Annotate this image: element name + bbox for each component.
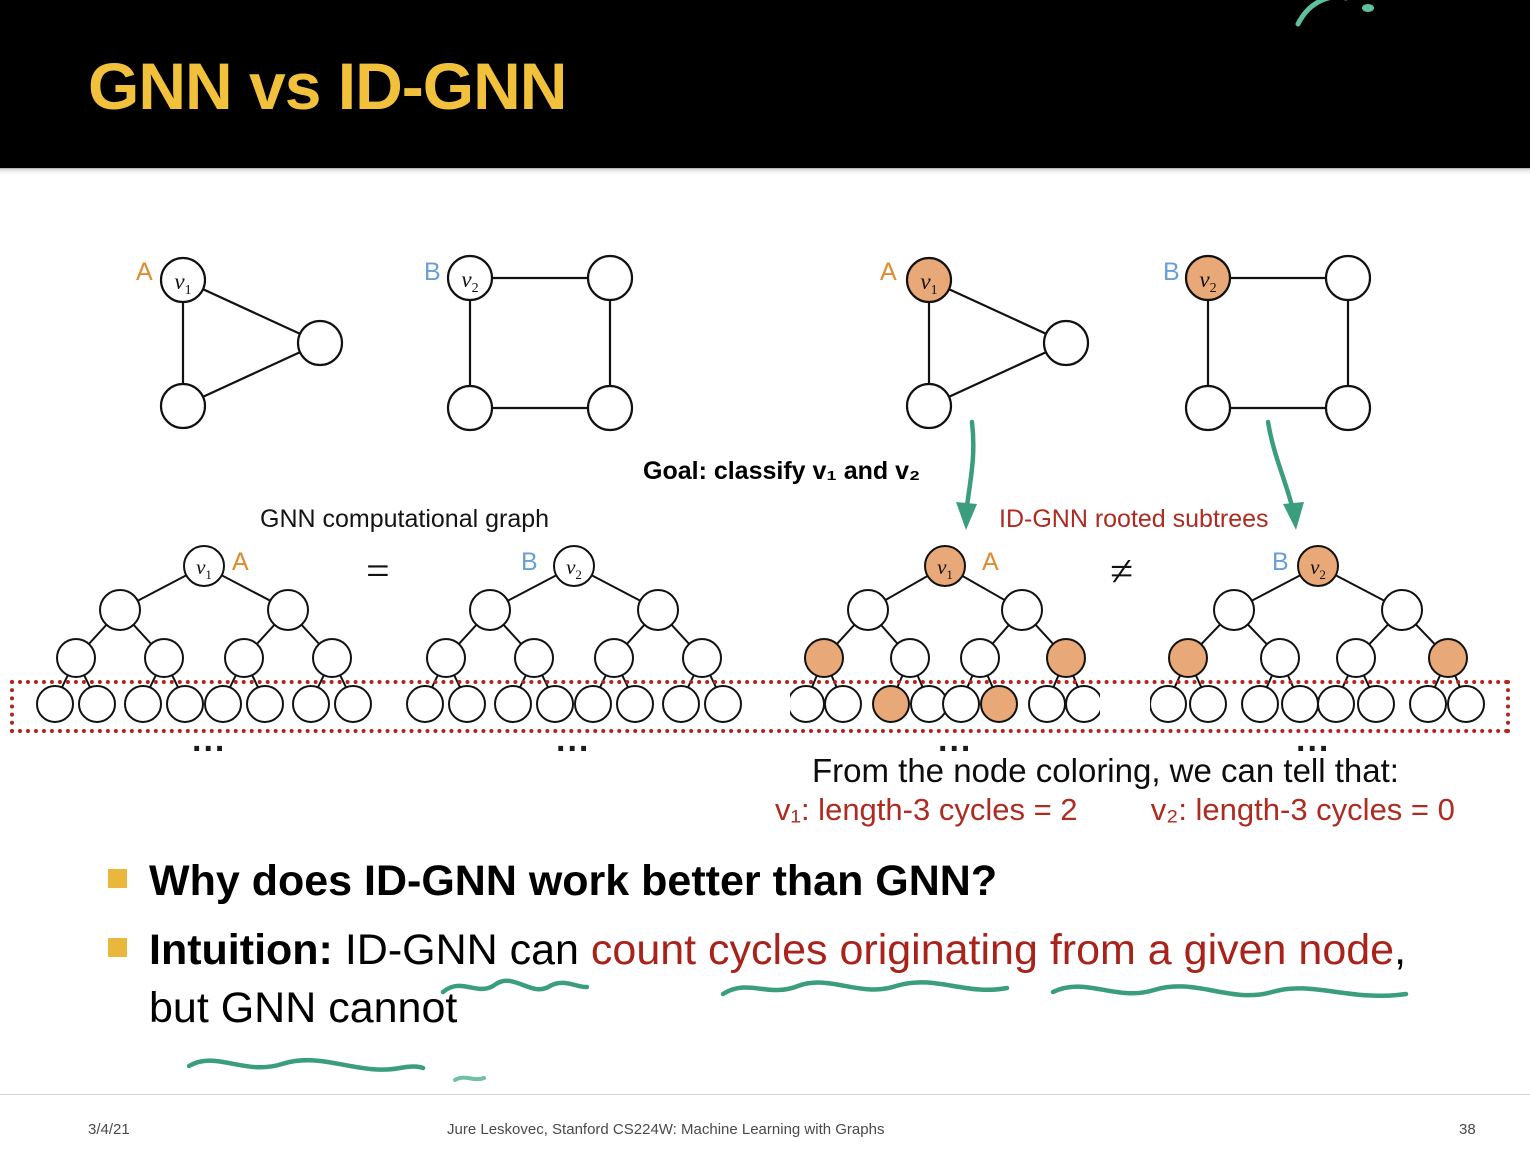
conclusion-line-1: From the node coloring, we can tell that… <box>812 752 1399 790</box>
green-underline-2 <box>720 978 1010 1004</box>
bullet-item-1: Why does ID-GNN work better than GNN? <box>108 852 1408 910</box>
title-divider <box>0 168 1530 175</box>
not-equals-symbol: ≠ <box>1110 548 1133 596</box>
green-underline-5 <box>452 1070 488 1088</box>
goal-caption-text: Goal: classify v₁ and v₂ <box>643 457 920 485</box>
footer-divider <box>0 1094 1530 1095</box>
green-underline-4 <box>186 1052 426 1082</box>
conclusion-v2-result: v₂: length-3 cycles = 0 <box>1151 792 1455 827</box>
graph-triangle-plain: v1 <box>150 248 360 438</box>
graph-triangle-highlighted: v1 <box>896 248 1106 438</box>
footer-date: 3/4/21 <box>88 1121 130 1138</box>
green-underline-3 <box>1050 980 1410 1008</box>
tree-tag-idgnn-v1: A <box>982 548 999 577</box>
green-scribble-icon <box>1280 0 1410 36</box>
bullet-square-icon <box>108 869 127 888</box>
bullet-1-text: Why does ID-GNN work better than GNN? <box>149 852 997 910</box>
bullet-2-red-2: a given node <box>1148 926 1394 974</box>
green-underline-1 <box>440 978 590 1004</box>
footer-page-number: 38 <box>1459 1121 1476 1138</box>
gnn-computational-graph-caption: GNN computational graph <box>260 505 549 534</box>
graph-square-plain: v2 <box>440 248 650 438</box>
bullet-2-plain-1: ID-GNN can <box>333 926 591 974</box>
slide: GNN vs ID-GNN A v1 B v2 A v1 <box>0 0 1530 1150</box>
graph-tag-a-right: A <box>880 258 897 287</box>
tree-tag-idgnn-v2: B <box>1272 548 1289 577</box>
ellipsis-tree-2: ... <box>556 735 590 745</box>
goal-caption: Goal: classify v₁ and v₂ <box>643 457 920 486</box>
ellipsis-tree-3: ... <box>938 735 972 745</box>
footer-attribution: Jure Leskovec, Stanford CS224W: Machine … <box>447 1121 884 1138</box>
graph-square-highlighted: v2 <box>1178 248 1388 438</box>
page-title: GNN vs ID-GNN <box>88 48 566 124</box>
tree-tag-gnn-v1: A <box>232 548 249 577</box>
bullet-square-icon-2 <box>108 938 127 957</box>
title-bar: GNN vs ID-GNN <box>0 0 1530 168</box>
idgnn-rooted-subtrees-caption: ID-GNN rooted subtrees <box>999 505 1269 534</box>
conclusion-line-2: v₁: length-3 cycles = 2 v₂: length-3 cyc… <box>775 792 1455 828</box>
conclusion-v1-result: v₁: length-3 cycles = 2 <box>775 792 1078 827</box>
bullet-2-bold: Intuition: <box>149 926 333 974</box>
ellipsis-tree-4: ... <box>1296 735 1330 745</box>
leaf-layer-highlight-box <box>10 680 1510 733</box>
tree-tag-gnn-v2: B <box>521 548 538 577</box>
ellipsis-tree-1: ... <box>192 735 226 745</box>
bullet-2-red-1: count cycles originating from <box>591 926 1136 974</box>
graph-tag-b-left: B <box>424 258 441 287</box>
